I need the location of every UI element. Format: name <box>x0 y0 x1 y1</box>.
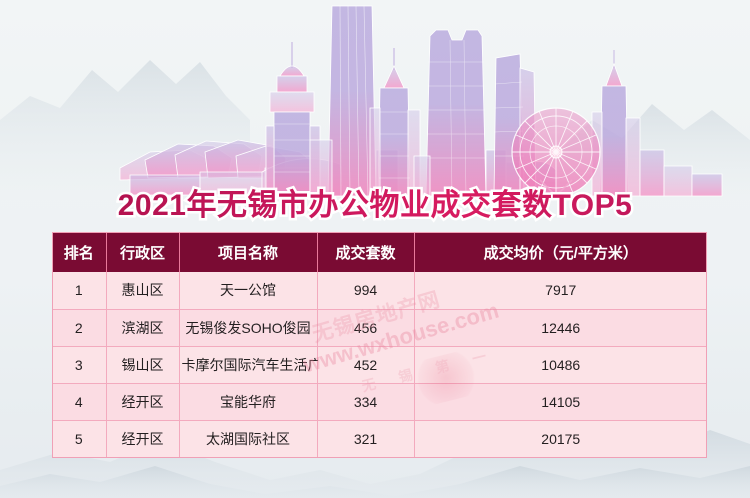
cell-units: 321 <box>317 420 414 457</box>
cell-district: 经开区 <box>106 420 179 457</box>
page-title: 2021年无锡市办公物业成交套数TOP5 <box>118 180 633 224</box>
cell-project: 天一公馆 <box>179 272 317 309</box>
cell-project: 太湖国际社区 <box>179 420 317 457</box>
poster-canvas: 2021年无锡市办公物业成交套数TOP5 2021年无锡市办公物业成交套数TOP… <box>0 0 750 498</box>
cell-units: 456 <box>317 309 414 346</box>
column-header-price: 成交均价（元/平方米） <box>414 232 707 272</box>
table-row: 1 惠山区 天一公馆 994 7917 <box>52 272 707 309</box>
cell-project: 宝能华府 <box>179 383 317 420</box>
cell-units: 452 <box>317 346 414 383</box>
cell-price: 10486 <box>414 346 707 383</box>
poster-title-container: 2021年无锡市办公物业成交套数TOP5 2021年无锡市办公物业成交套数TOP… <box>0 180 750 224</box>
table-row: 4 经开区 宝能华府 334 14105 <box>52 383 707 420</box>
table-header-row: 排名 行政区 项目名称 成交套数 成交均价（元/平方米） <box>52 232 707 272</box>
cell-district: 惠山区 <box>106 272 179 309</box>
cell-units: 994 <box>317 272 414 309</box>
column-header-rank: 排名 <box>52 232 106 272</box>
table-row: 3 锡山区 卡摩尔国际汽车生活广场 452 10486 <box>52 346 707 383</box>
cell-district: 锡山区 <box>106 346 179 383</box>
cell-rank: 4 <box>52 383 106 420</box>
cell-project: 卡摩尔国际汽车生活广场 <box>179 346 317 383</box>
table-row: 2 滨湖区 无锡俊发SOHO俊园 456 12446 <box>52 309 707 346</box>
cell-rank: 1 <box>52 272 106 309</box>
cell-district: 滨湖区 <box>106 309 179 346</box>
table-row: 5 经开区 太湖国际社区 321 20175 <box>52 420 707 457</box>
cell-project: 无锡俊发SOHO俊园 <box>179 309 317 346</box>
column-header-units: 成交套数 <box>317 232 414 272</box>
cell-price: 14105 <box>414 383 707 420</box>
cell-price: 12446 <box>414 309 707 346</box>
ranking-table: 排名 行政区 项目名称 成交套数 成交均价（元/平方米） 1 惠山区 天一公馆 … <box>52 232 707 458</box>
cell-rank: 5 <box>52 420 106 457</box>
cell-rank: 2 <box>52 309 106 346</box>
column-header-project: 项目名称 <box>179 232 317 272</box>
table-body: 1 惠山区 天一公馆 994 7917 2 滨湖区 无锡俊发SOHO俊园 456… <box>52 272 707 457</box>
cell-rank: 3 <box>52 346 106 383</box>
ranking-table-container: 排名 行政区 项目名称 成交套数 成交均价（元/平方米） 1 惠山区 天一公馆 … <box>52 232 707 458</box>
column-header-district: 行政区 <box>106 232 179 272</box>
table-header: 排名 行政区 项目名称 成交套数 成交均价（元/平方米） <box>52 232 707 272</box>
city-skyline-illustration <box>0 0 750 200</box>
cell-district: 经开区 <box>106 383 179 420</box>
cell-price: 7917 <box>414 272 707 309</box>
cell-units: 334 <box>317 383 414 420</box>
cell-price: 20175 <box>414 420 707 457</box>
